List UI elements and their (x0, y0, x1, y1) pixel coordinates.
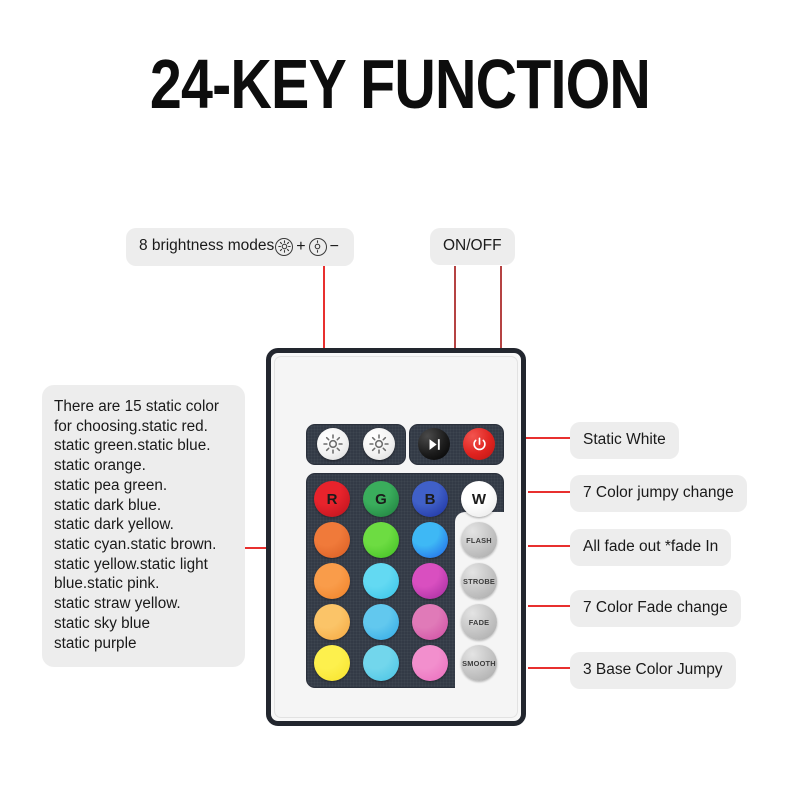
yellow-button[interactable] (314, 604, 350, 640)
light-blue-button[interactable] (363, 604, 399, 640)
callout-static-white: Static White (570, 422, 679, 459)
callout-static-colors: There are 15 static color for choosing.s… (42, 385, 245, 667)
connector-line-brightness (323, 266, 325, 350)
minus-sign: − (328, 236, 341, 258)
connector-line-color-fade (528, 605, 570, 607)
remote-control: R G B W FLASH STROBE (266, 348, 526, 726)
cyan-button[interactable] (363, 563, 399, 599)
connector-line-base-color-jumpy (528, 667, 570, 669)
static-colors-line: static dark yellow. (54, 515, 233, 535)
pink-button[interactable] (412, 604, 448, 640)
strobe-button[interactable]: STROBE (461, 563, 497, 599)
strobe-button-label: STROBE (463, 577, 495, 586)
blue-button-label: B (425, 491, 436, 508)
straw-yellow-button[interactable] (314, 645, 350, 681)
connector-line-color-jumpy (528, 491, 570, 493)
pea-green-button[interactable] (363, 522, 399, 558)
smooth-button[interactable]: SMOOTH (461, 645, 497, 681)
callout-base-color-jumpy: 3 Base Color Jumpy (570, 652, 736, 689)
page-title: 24-KEY FUNCTION (72, 48, 728, 122)
orange-button[interactable] (314, 522, 350, 558)
static-colors-line: static pea green. (54, 476, 233, 496)
power-button[interactable] (463, 428, 495, 460)
brown-button[interactable] (412, 563, 448, 599)
connector-line-static-white (524, 437, 570, 439)
flash-button[interactable]: FLASH (461, 522, 497, 558)
static-colors-line: static yellow.static light (54, 555, 233, 575)
green-button-label: G (375, 491, 387, 508)
dark-blue-button[interactable] (412, 522, 448, 558)
static-colors-line: static purple (54, 634, 233, 654)
brightness-up-icon (275, 238, 293, 256)
plus-sign: + (294, 236, 307, 258)
static-colors-line: static straw yellow. (54, 594, 233, 614)
sky-blue-button[interactable] (363, 645, 399, 681)
dark-yellow-button[interactable] (314, 563, 350, 599)
smooth-button-label: SMOOTH (462, 659, 496, 668)
infographic-page: 24-KEY FUNCTION 8 brightness modes + − O… (0, 0, 800, 800)
white-button[interactable]: W (461, 481, 497, 517)
connector-line-onoff-play (454, 266, 456, 350)
static-colors-line: static cyan.static brown. (54, 535, 233, 555)
white-button-label: W (472, 491, 486, 508)
static-colors-line: blue.static pink. (54, 574, 233, 594)
callout-fade-out-in: All fade out *fade In (570, 529, 731, 566)
static-colors-line: static orange. (54, 456, 233, 476)
callout-brightness-text: 8 brightness modes (139, 236, 274, 257)
brightness-down-icon (309, 238, 327, 256)
callout-color-jumpy: 7 Color jumpy change (570, 475, 747, 512)
static-colors-line: There are 15 static color (54, 397, 233, 417)
remote-face: R G B W FLASH STROBE (274, 356, 518, 718)
green-button[interactable]: G (363, 481, 399, 517)
static-colors-line: for choosing.static red. (54, 417, 233, 437)
static-colors-line: static green.static blue. (54, 436, 233, 456)
brightness-up-button[interactable] (317, 428, 349, 460)
purple-button[interactable] (412, 645, 448, 681)
callout-color-fade: 7 Color Fade change (570, 590, 741, 627)
fade-button-label: FADE (469, 618, 490, 627)
static-colors-line: static sky blue (54, 614, 233, 634)
callout-brightness-modes: 8 brightness modes + − (126, 228, 354, 266)
red-button-label: R (327, 491, 338, 508)
brightness-down-button[interactable] (363, 428, 395, 460)
flash-button-label: FLASH (466, 536, 492, 545)
fade-button[interactable]: FADE (461, 604, 497, 640)
callout-on-off: ON/OFF (430, 228, 515, 265)
connector-line-fade-out-in (528, 545, 570, 547)
play-pause-button[interactable] (418, 428, 450, 460)
red-button[interactable]: R (314, 481, 350, 517)
blue-button[interactable]: B (412, 481, 448, 517)
static-colors-line: static dark blue. (54, 496, 233, 516)
connector-line-onoff-power (500, 266, 502, 350)
